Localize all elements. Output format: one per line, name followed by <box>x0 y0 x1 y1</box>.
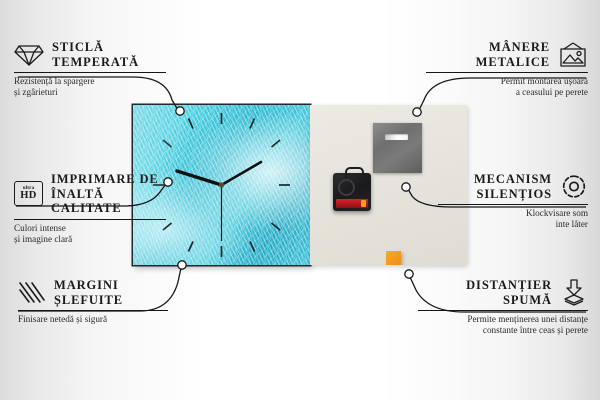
callout-rule <box>426 72 588 73</box>
infographic-stage: STICLĂ TEMPERATĂ Rezistență la spargere … <box>0 0 600 400</box>
callout-rule <box>418 310 588 311</box>
callout-rule <box>14 219 166 220</box>
callout-head: ultra HD IMPRIMARE DE ÎNALTĂ CALITATE <box>14 172 166 216</box>
connector-endpoint-edges <box>178 261 186 269</box>
callout-description: Rezistență la spargere și zgârieturi <box>14 76 166 98</box>
callout-title: IMPRIMARE DE ÎNALTĂ CALITATE <box>51 172 166 216</box>
callout-metal-handles: MÂNERE METALICE Permit montarea ușoară a… <box>426 40 588 98</box>
callout-description: Finisare netedă și sigură <box>18 314 168 325</box>
callout-rule <box>14 72 166 73</box>
callout-head: MARGINI ȘLEFUITE <box>18 278 168 307</box>
callout-rule <box>18 310 168 311</box>
callout-description: Permit montarea ușoară a ceasului pe per… <box>426 76 588 98</box>
ultra-hd-icon-main: HD <box>20 191 37 202</box>
callout-description: Culori intense și imagine clară <box>14 223 166 245</box>
callout-title: STICLĂ TEMPERATĂ <box>52 40 139 69</box>
callout-description: Permite menținerea unei distanțe constan… <box>418 314 588 336</box>
diagonal-lines-icon <box>18 281 46 305</box>
connector-endpoint-handles <box>413 108 421 116</box>
gear-icon <box>560 173 588 200</box>
callout-head: DISTANȚIER SPUMĂ <box>418 278 588 307</box>
callout-title: MECANISM SILENȚIOS <box>474 172 552 201</box>
callout-tempered-glass: STICLĂ TEMPERATĂ Rezistență la spargere … <box>14 40 166 98</box>
callout-title: MÂNERE METALICE <box>476 40 550 69</box>
callout-title: MARGINI ȘLEFUITE <box>54 278 123 307</box>
connector-endpoint-glass <box>176 107 184 115</box>
callout-high-quality-print: ultra HD IMPRIMARE DE ÎNALTĂ CALITATE Cu… <box>14 172 166 245</box>
callout-head: STICLĂ TEMPERATĂ <box>14 40 166 69</box>
ultra-hd-icon: ultra HD <box>14 181 43 206</box>
callout-description: Klockvisare som inte låter <box>438 208 588 230</box>
down-arrow-stack-icon <box>560 279 588 306</box>
callout-title: DISTANȚIER SPUMĂ <box>466 278 552 307</box>
callout-silent-mechanism: MECANISM SILENȚIOS Klockvisare som inte … <box>438 172 588 230</box>
diamond-icon <box>14 42 44 67</box>
callout-head: MECANISM SILENȚIOS <box>438 172 588 201</box>
callout-rule <box>438 204 588 205</box>
connector-endpoint-spacer <box>405 270 413 278</box>
callout-head: MÂNERE METALICE <box>426 40 588 69</box>
callout-foam-spacer: DISTANȚIER SPUMĂ Permite menținerea unei… <box>418 278 588 336</box>
framed-picture-icon <box>558 42 588 68</box>
connector-endpoint-mechanism <box>402 183 410 191</box>
callout-polished-edges: MARGINI ȘLEFUITE Finisare netedă și sigu… <box>18 278 168 325</box>
